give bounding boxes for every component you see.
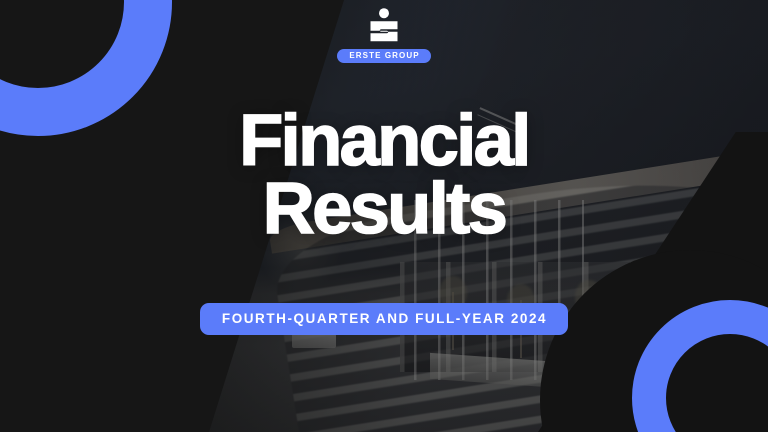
subtitle-badge: FOURTH-QUARTER AND FULL-YEAR 2024	[200, 303, 568, 335]
title-slide: ERSTE GROUP Financial Results FOURTH-QUA…	[0, 0, 768, 432]
sparkasse-s-icon	[364, 8, 404, 44]
erste-group-badge: ERSTE GROUP	[337, 49, 430, 63]
page-title: Financial Results	[0, 108, 768, 243]
page-title-line-2: Results	[0, 176, 768, 244]
subtitle-container: FOURTH-QUARTER AND FULL-YEAR 2024	[0, 303, 768, 335]
brand-logo-lockup: ERSTE GROUP	[0, 8, 768, 63]
page-title-line-1: Financial	[0, 108, 768, 176]
